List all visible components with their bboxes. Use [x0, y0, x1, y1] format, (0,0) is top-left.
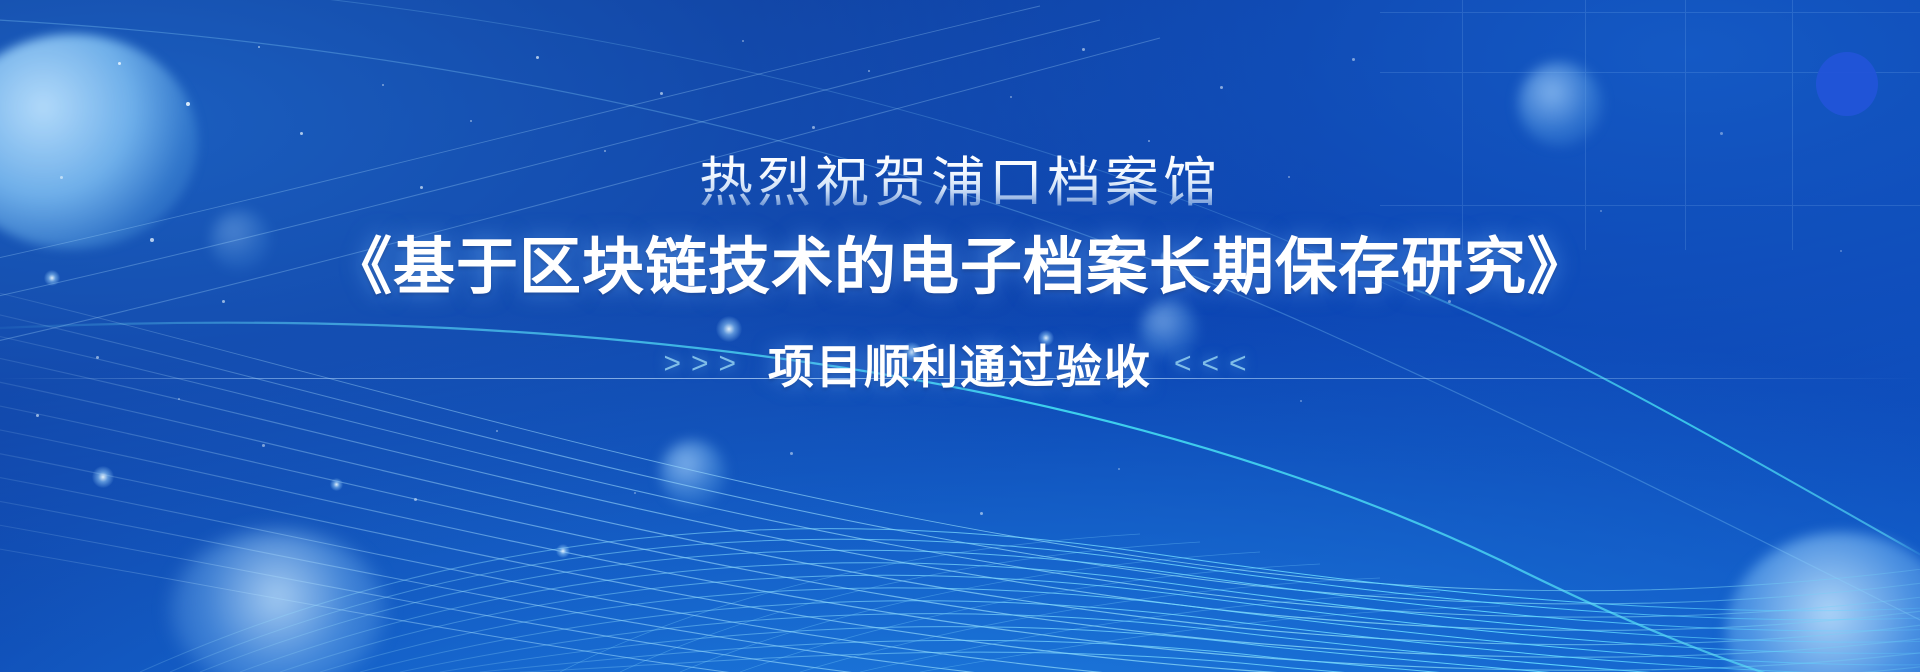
banner-text-block: 热烈祝贺浦口档案馆 《基于区块链技术的电子档案长期保存研究》 >>> 项目顺利通… — [0, 0, 1920, 672]
headline-main: 《基于区块链技术的电子档案长期保存研究》 — [330, 231, 1590, 305]
chevron-left-triple-icon: <<< — [1174, 347, 1257, 381]
subline-text: 项目顺利通过验收 — [768, 331, 1152, 397]
celebration-banner: 热烈祝贺浦口档案馆 《基于区块链技术的电子档案长期保存研究》 >>> 项目顺利通… — [0, 0, 1920, 672]
headline-top: 热烈祝贺浦口档案馆 — [699, 152, 1221, 215]
chevron-right-triple-icon: >>> — [663, 347, 746, 381]
subline: >>> 项目顺利通过验收 <<< — [663, 331, 1256, 397]
